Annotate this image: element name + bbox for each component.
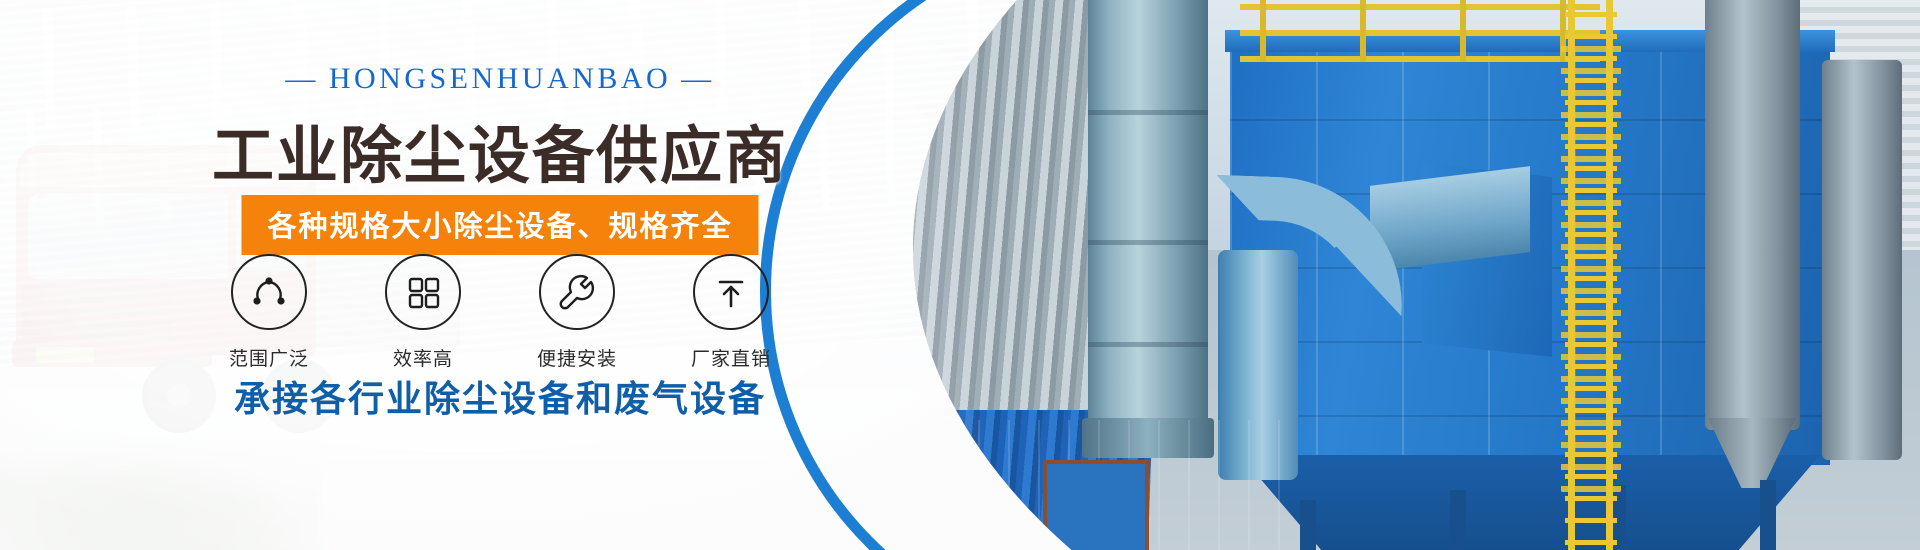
handrail-bar [1240,56,1600,62]
feature-list: 范围广泛 效率高 [0,254,1000,371]
handrail-post [1260,0,1266,62]
silo-band [1088,342,1208,347]
handrail-post [1460,0,1466,62]
yellow-safety-ladder [1565,0,1617,550]
brand-name-latin: HONGSENHUANBAO [329,62,671,95]
wrench-icon [539,254,615,330]
grid-squares-icon [385,254,461,330]
feature-item-efficiency[interactable]: 效率高 [369,254,477,371]
feature-item-direct-sales[interactable]: 厂家直销 [677,254,785,371]
feature-label: 范围广泛 [229,344,309,371]
brand-eyebrow: —HONGSENHUANBAO— [0,62,1000,96]
support-leg [1760,480,1776,550]
support-leg [1300,500,1316,550]
feature-label: 效率高 [393,344,453,371]
grey-vessel-far-right [1822,60,1902,460]
tagline: 承接各行业除尘设备和废气设备 [0,370,1000,422]
silo-band [1088,110,1208,115]
ladder-rail [1606,0,1613,550]
feature-item-installation[interactable]: 便捷安装 [523,254,631,371]
dash-left: — [275,62,329,96]
support-leg [1450,490,1466,550]
feature-label: 便捷安装 [537,344,617,371]
hero-banner: —HONGSENHUANBAO— 工业除尘设备供应商 各种规格大小除尘设备、规格… [0,0,1920,550]
arrow-up-icon [693,254,769,330]
handrail-bar [1240,4,1600,10]
grey-vessel-right [1705,0,1800,430]
handrail-bar [1240,30,1600,36]
handrail-post [1360,0,1366,62]
silo-band [1088,240,1208,245]
ladder-rail [1568,0,1575,550]
page-title: 工业除尘设备供应商 [0,105,1000,195]
subtitle-badge: 各种规格大小除尘设备、规格齐全 [241,195,758,255]
yellow-handrail [1240,0,1600,62]
grey-silo-duct [1088,0,1208,430]
feature-label: 厂家直销 [691,344,771,371]
banner-content: —HONGSENHUANBAO— 工业除尘设备供应商 各种规格大小除尘设备、规格… [0,0,1000,550]
network-nodes-icon [231,254,307,330]
dash-right: — [671,62,725,96]
feature-item-scope[interactable]: 范围广泛 [215,254,323,371]
